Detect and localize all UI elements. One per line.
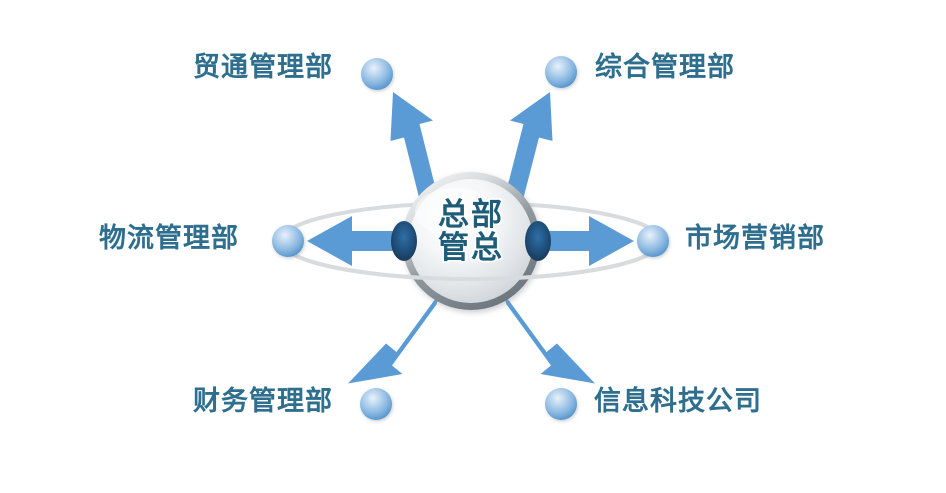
node-sphere-maotong[interactable] [361, 58, 393, 90]
node-label-wuliu[interactable]: 物流管理部 [99, 225, 239, 252]
arrow-to-caiwu [348, 291, 441, 384]
ring-lens-right [525, 221, 551, 261]
diagram-canvas: 总部 管总 贸通管理部 综合管理部 物流管理部 市场营销部 财务管理部 信息科技… [0, 0, 946, 493]
node-label-caiwu[interactable]: 财务管理部 [193, 388, 333, 415]
node-label-shichang[interactable]: 市场营销部 [685, 225, 825, 252]
node-sphere-shichang[interactable] [637, 225, 669, 257]
node-sphere-wuliu[interactable] [272, 225, 304, 257]
ring-lens-left [391, 221, 417, 261]
node-sphere-zonghe[interactable] [545, 56, 577, 88]
node-label-maotong[interactable]: 贸通管理部 [193, 54, 333, 81]
node-label-xinxi[interactable]: 信息科技公司 [594, 388, 762, 415]
center-sphere[interactable] [402, 172, 540, 310]
node-label-zonghe[interactable]: 综合管理部 [595, 54, 735, 81]
node-sphere-caiwu[interactable] [360, 388, 392, 420]
arrow-to-xinxi [502, 291, 595, 384]
node-sphere-xinxi[interactable] [545, 388, 577, 420]
